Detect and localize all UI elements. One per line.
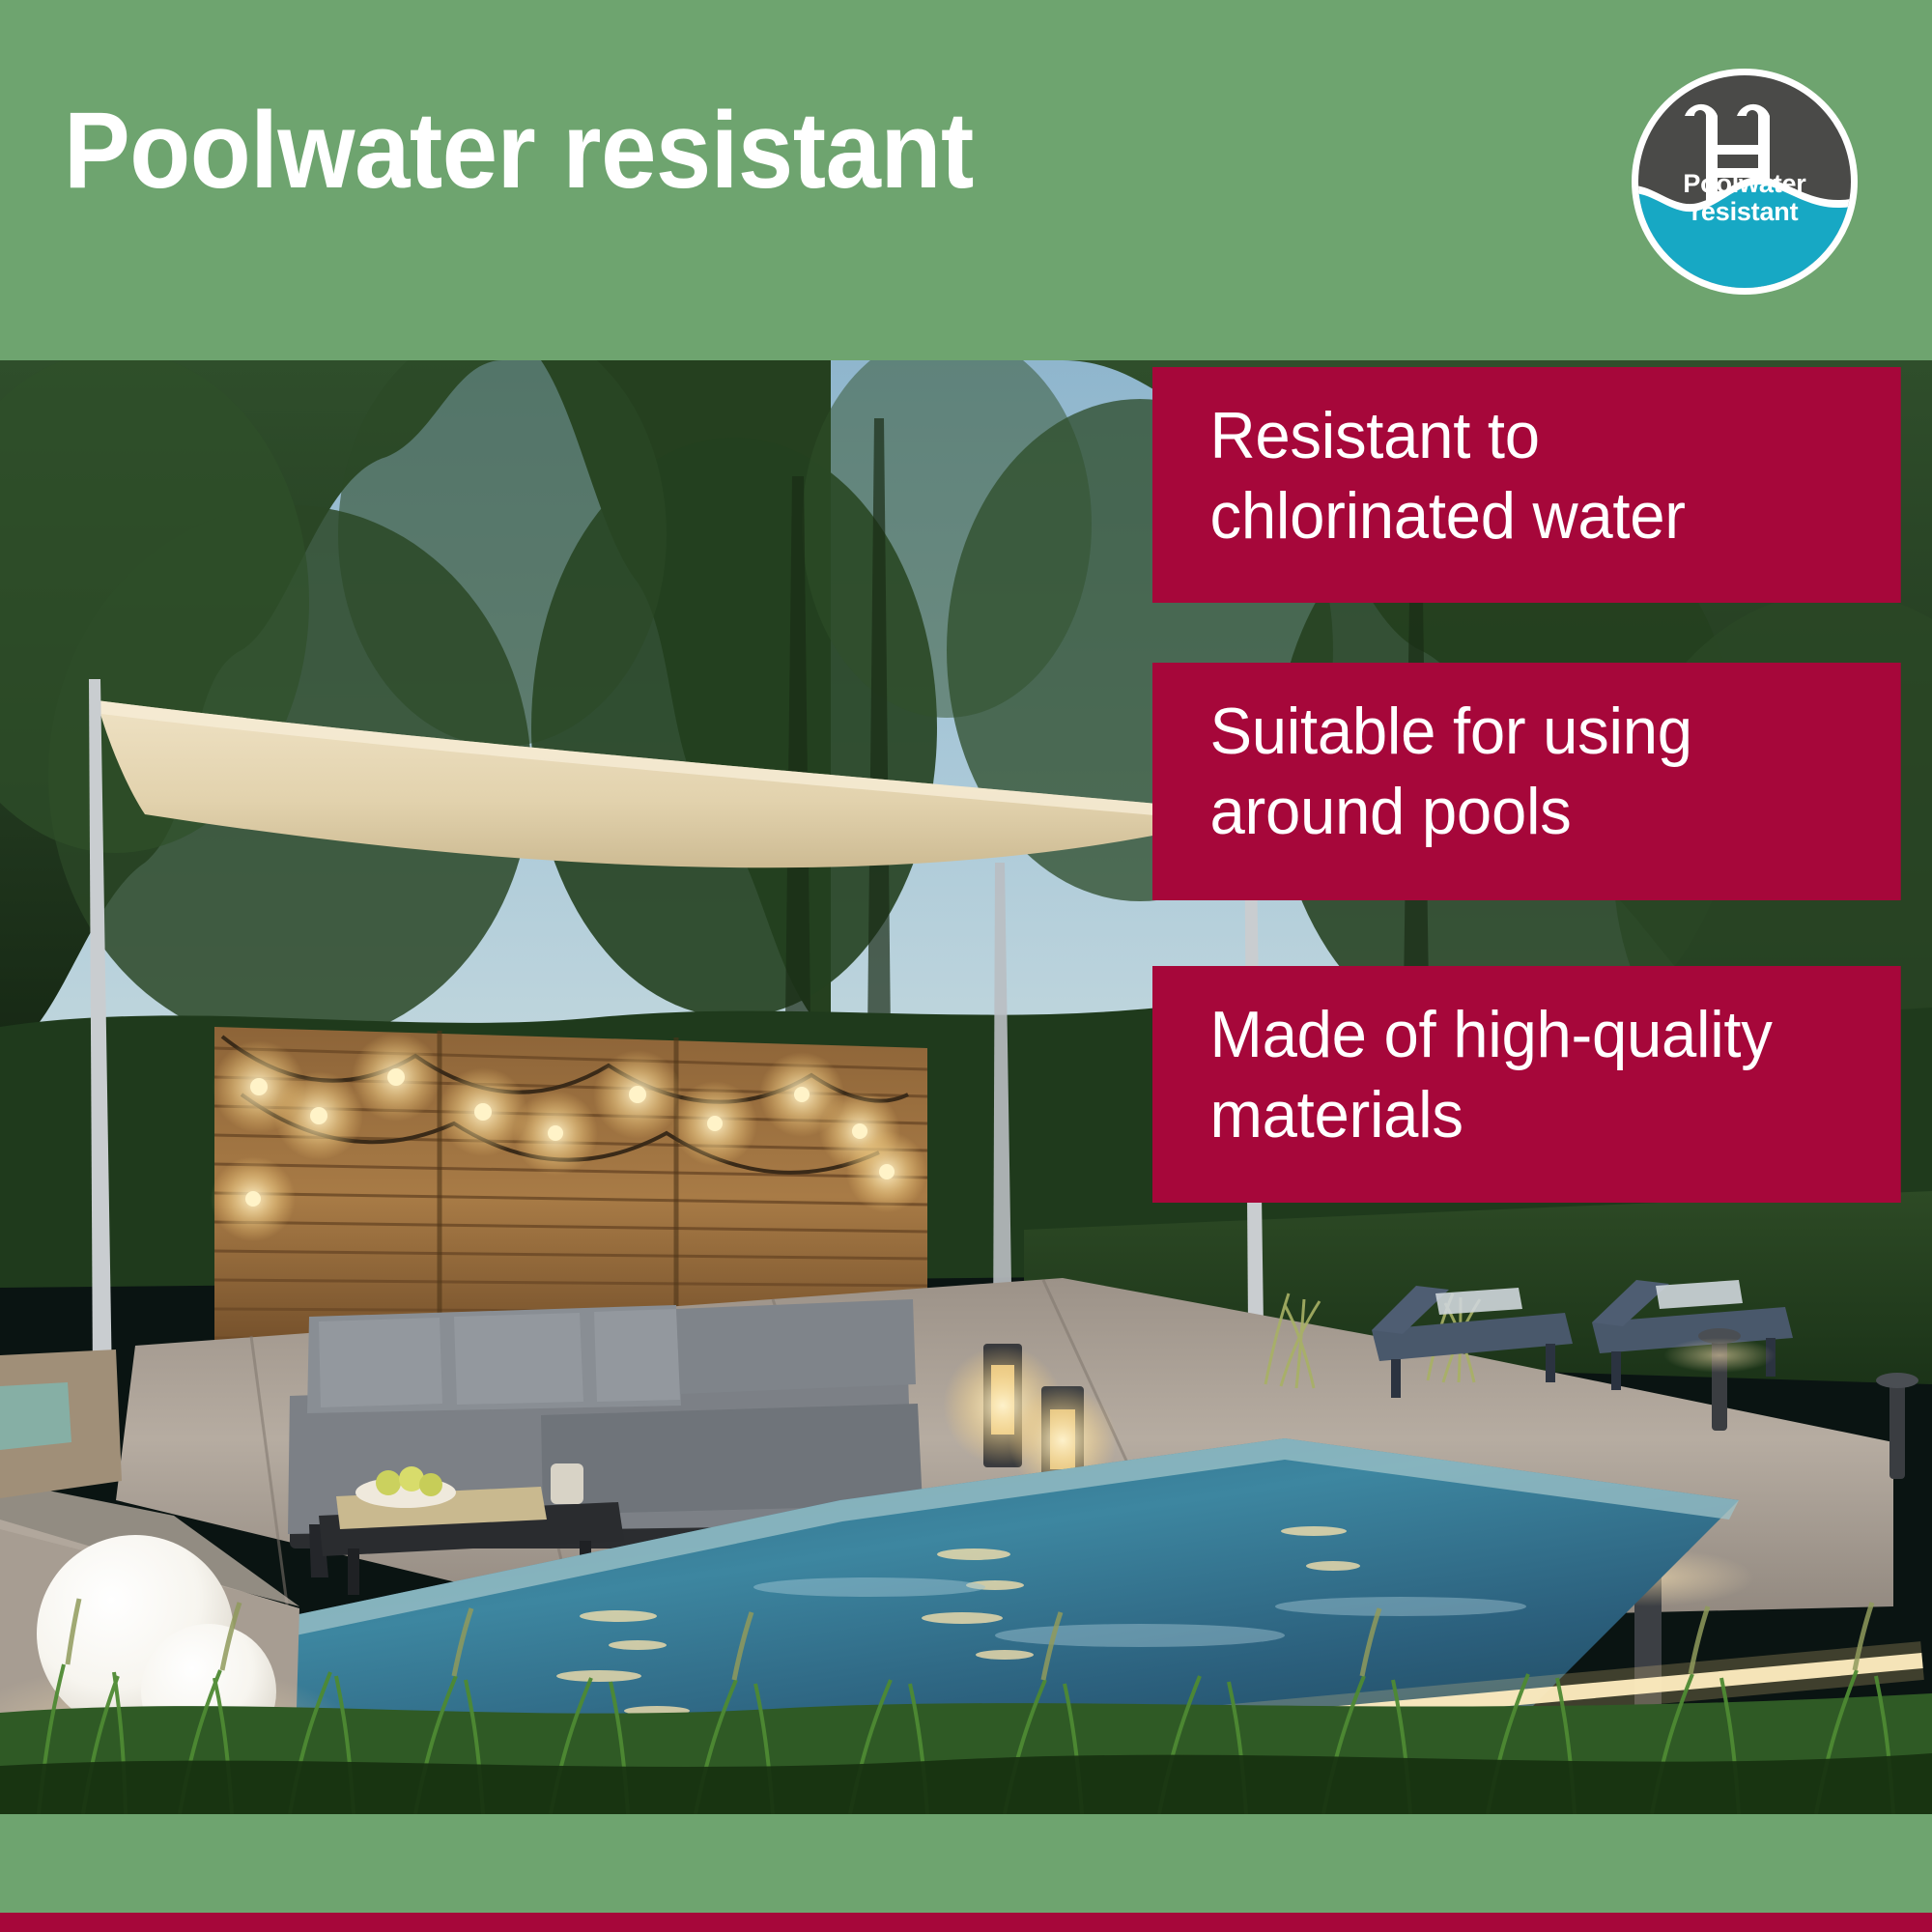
callout-2-line1: Suitable for using bbox=[1210, 692, 1901, 772]
callout-2: Suitable for using around pools bbox=[1152, 663, 1901, 900]
callout-3-line1: Made of high-quality bbox=[1210, 995, 1901, 1075]
callout-1: Resistant to chlorinated water bbox=[1152, 367, 1901, 603]
header-band: Poolwater resistant bbox=[0, 0, 1932, 360]
page-title: Poolwater resistant bbox=[64, 97, 974, 205]
callout-3: Made of high-quality materials bbox=[1152, 966, 1901, 1203]
callout-1-line1: Resistant to bbox=[1210, 396, 1901, 476]
infographic-page: Poolwater resistant bbox=[0, 0, 1932, 1932]
callout-2-line2: around pools bbox=[1210, 772, 1901, 852]
rattan-furniture bbox=[0, 1350, 122, 1498]
grass-silhouette bbox=[0, 1753, 1932, 1814]
badge-graphic bbox=[1629, 66, 1861, 298]
poolwater-resistant-badge: Poolwater resistant bbox=[1629, 66, 1861, 298]
callout-1-line2: chlorinated water bbox=[1210, 476, 1901, 556]
callout-3-line2: materials bbox=[1210, 1075, 1901, 1155]
table-jug bbox=[551, 1463, 583, 1504]
footer-green-band bbox=[0, 1814, 1932, 1913]
footer-red-bar bbox=[0, 1913, 1932, 1932]
